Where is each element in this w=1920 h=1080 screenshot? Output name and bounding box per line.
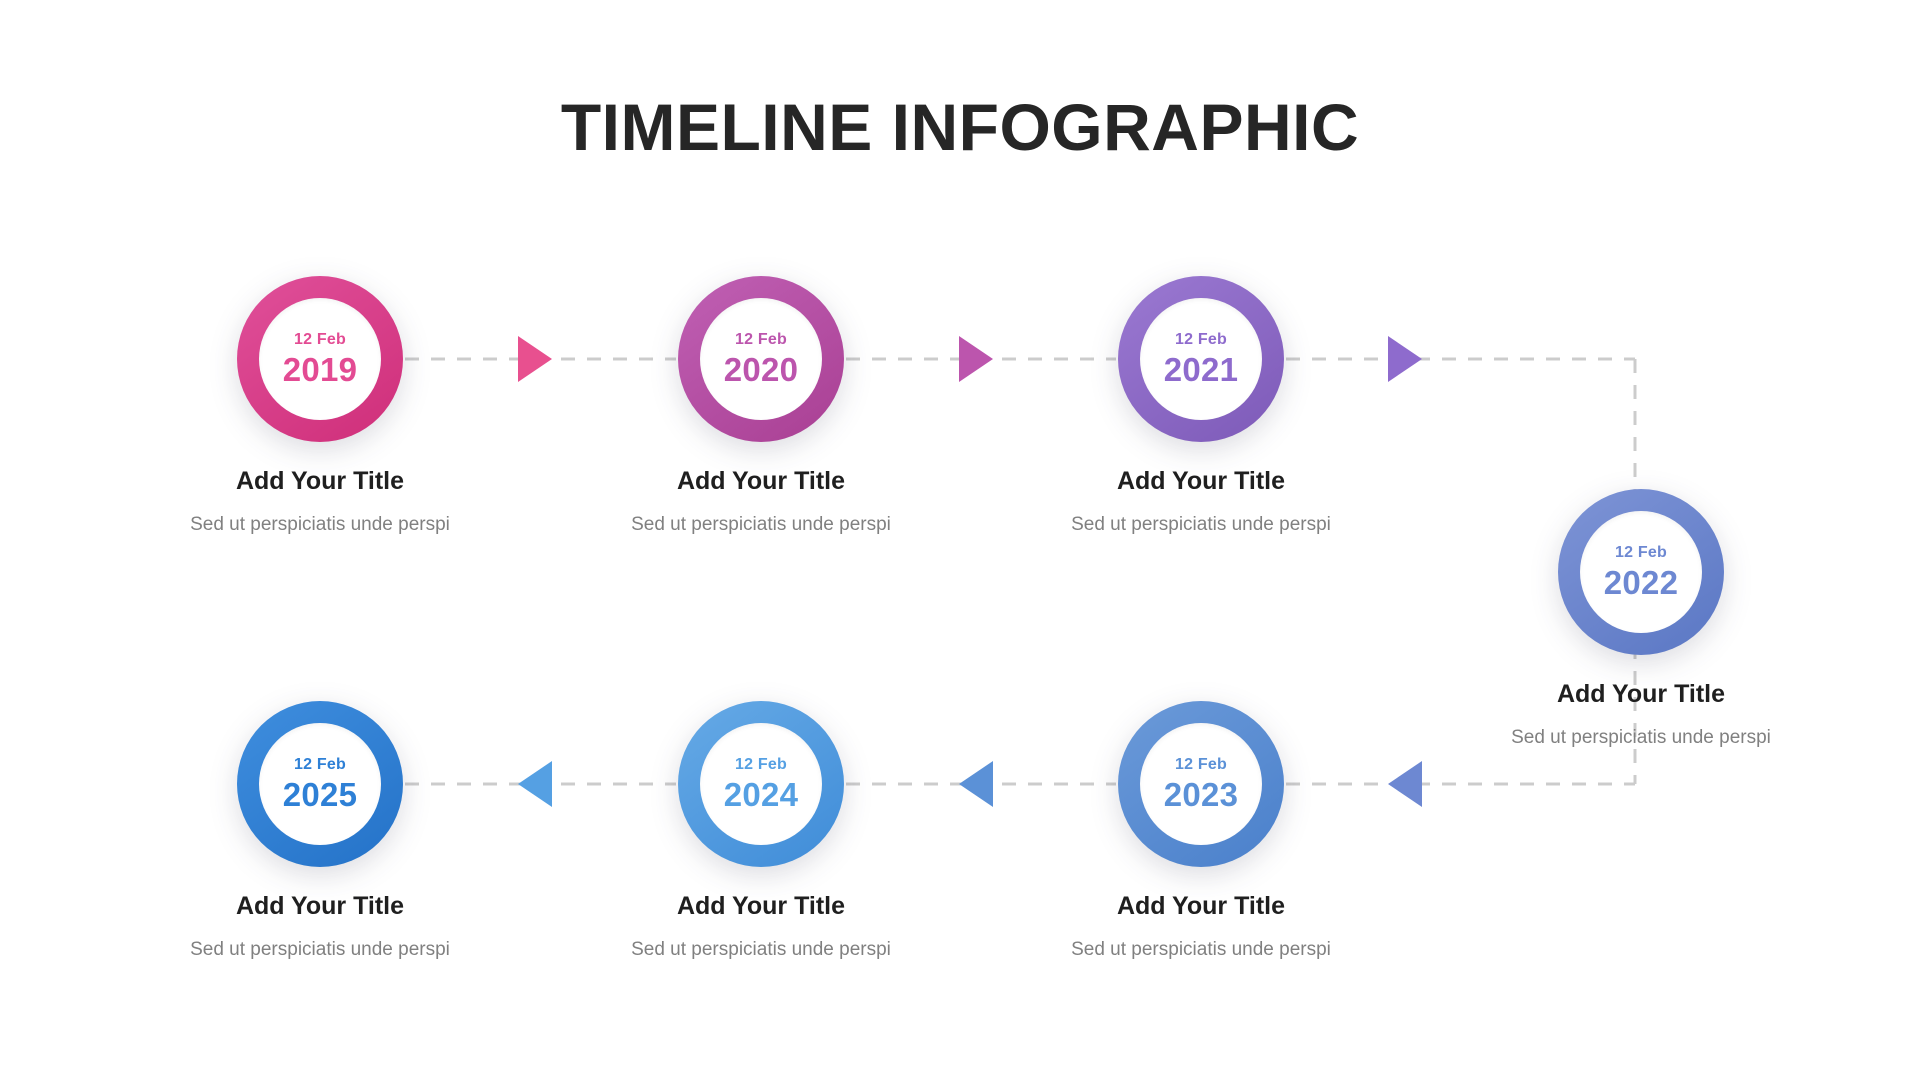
milestone-ring-inner: 12 Feb2024	[700, 723, 822, 845]
milestone-year: 2023	[1164, 777, 1239, 813]
milestone-ring-wrap: 12 Feb2021	[1118, 276, 1284, 442]
milestone-ring-2023: 12 Feb2023	[1118, 701, 1284, 867]
milestone-description: Sed ut perspiciatis unde perspi	[1071, 938, 1331, 962]
milestone-ring-wrap: 12 Feb2020	[678, 276, 844, 442]
milestone-ring-inner: 12 Feb2023	[1140, 723, 1262, 845]
milestone-description: Sed ut perspiciatis unde perspi	[190, 513, 450, 537]
milestone-year: 2020	[724, 352, 799, 388]
infographic-canvas: TIMELINE INFOGRAPHIC 12 Feb2019Add Your …	[0, 0, 1920, 1080]
milestone-ring-inner: 12 Feb2025	[259, 723, 381, 845]
milestone-ring-wrap: 12 Feb2022	[1558, 489, 1724, 655]
milestone-2021[interactable]: 12 Feb2021Add Your TitleSed ut perspicia…	[1071, 276, 1331, 537]
page-title: TIMELINE INFOGRAPHIC	[0, 88, 1920, 166]
arrow-left-blue	[1388, 761, 1422, 807]
milestone-description: Sed ut perspiciatis unde perspi	[1071, 513, 1331, 537]
milestone-description: Sed ut perspiciatis unde perspi	[631, 938, 891, 962]
milestone-title: Add Your Title	[190, 891, 450, 921]
milestone-ring-wrap: 12 Feb2024	[678, 701, 844, 867]
milestone-title: Add Your Title	[190, 466, 450, 496]
arrow-right-pink	[518, 336, 552, 382]
milestone-ring-2024: 12 Feb2024	[678, 701, 844, 867]
milestone-description: Sed ut perspiciatis unde perspi	[1511, 726, 1771, 750]
milestone-date: 12 Feb	[294, 331, 346, 349]
milestone-date: 12 Feb	[735, 331, 787, 349]
milestone-2020[interactable]: 12 Feb2020Add Your TitleSed ut perspicia…	[631, 276, 891, 537]
milestone-year: 2019	[283, 352, 358, 388]
milestone-title: Add Your Title	[631, 891, 891, 921]
milestone-2024[interactable]: 12 Feb2024Add Your TitleSed ut perspicia…	[631, 701, 891, 962]
milestone-description: Sed ut perspiciatis unde perspi	[190, 938, 450, 962]
arrow-right-orchid	[959, 336, 993, 382]
milestone-date: 12 Feb	[1175, 331, 1227, 349]
milestone-2022[interactable]: 12 Feb2022Add Your TitleSed ut perspicia…	[1511, 489, 1771, 750]
milestone-ring-2021: 12 Feb2021	[1118, 276, 1284, 442]
milestone-2019[interactable]: 12 Feb2019Add Your TitleSed ut perspicia…	[190, 276, 450, 537]
milestone-ring-inner: 12 Feb2021	[1140, 298, 1262, 420]
milestone-ring-2020: 12 Feb2020	[678, 276, 844, 442]
arrow-left-blue	[518, 761, 552, 807]
milestone-year: 2021	[1164, 352, 1239, 388]
milestone-2023[interactable]: 12 Feb2023Add Your TitleSed ut perspicia…	[1071, 701, 1331, 962]
connector-line-group	[405, 359, 1635, 784]
arrow-left-blue	[959, 761, 993, 807]
milestone-ring-wrap: 12 Feb2025	[237, 701, 403, 867]
milestone-ring-wrap: 12 Feb2023	[1118, 701, 1284, 867]
arrow-right-purple	[1388, 336, 1422, 382]
milestone-title: Add Your Title	[1071, 466, 1331, 496]
milestone-ring-inner: 12 Feb2022	[1580, 511, 1702, 633]
milestone-year: 2022	[1604, 565, 1679, 601]
milestone-date: 12 Feb	[1615, 544, 1667, 562]
milestone-date: 12 Feb	[294, 756, 346, 774]
milestone-ring-inner: 12 Feb2020	[700, 298, 822, 420]
milestone-date: 12 Feb	[1175, 756, 1227, 774]
milestone-title: Add Your Title	[1511, 679, 1771, 709]
milestone-year: 2025	[283, 777, 358, 813]
milestone-title: Add Your Title	[631, 466, 891, 496]
milestone-2025[interactable]: 12 Feb2025Add Your TitleSed ut perspicia…	[190, 701, 450, 962]
milestone-description: Sed ut perspiciatis unde perspi	[631, 513, 891, 537]
milestone-ring-2025: 12 Feb2025	[237, 701, 403, 867]
milestone-ring-2022: 12 Feb2022	[1558, 489, 1724, 655]
milestone-ring-inner: 12 Feb2019	[259, 298, 381, 420]
milestone-ring-wrap: 12 Feb2019	[237, 276, 403, 442]
milestone-year: 2024	[724, 777, 799, 813]
milestone-date: 12 Feb	[735, 756, 787, 774]
milestone-title: Add Your Title	[1071, 891, 1331, 921]
milestone-ring-2019: 12 Feb2019	[237, 276, 403, 442]
